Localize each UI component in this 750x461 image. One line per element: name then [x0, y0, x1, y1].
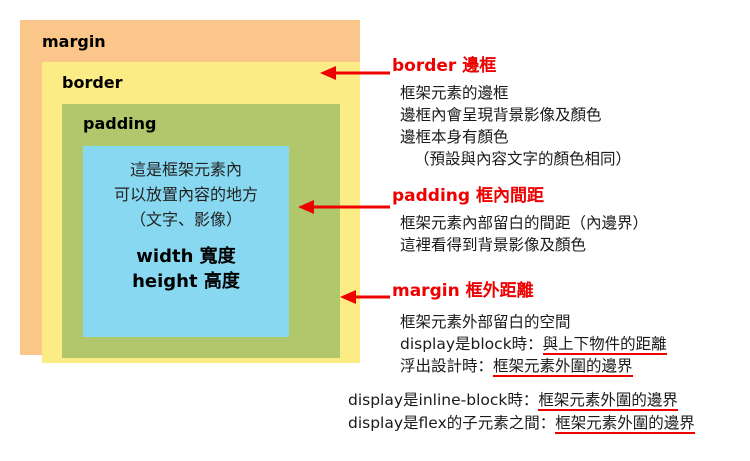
content-layer: 這是框架元素內 可以放置內容的地方 （文字、影像） width 寬度 heigh…	[83, 146, 289, 337]
extra-note-line-1-emphasis: 框架元素外圍的邊界	[538, 391, 678, 411]
annotation-padding-title: padding 框內間距	[392, 186, 648, 206]
extra-note-line-1-prefix: display是inline-block時：	[348, 391, 538, 409]
extra-note-line-2: display是flex的子元素之間：框架元素外圍的邊界	[348, 412, 695, 435]
padding-layer: padding 這是框架元素內 可以放置內容的地方 （文字、影像） width …	[62, 104, 340, 358]
margin-layer: margin border padding 這是框架元素內 可以放置內容的地方 …	[20, 20, 360, 355]
annotation-margin-line-2-prefix: display是block時：	[400, 335, 543, 353]
annotation-border-title: border 邊框	[392, 56, 631, 76]
box-model-diagram: margin border padding 這是框架元素內 可以放置內容的地方 …	[20, 20, 360, 355]
annotation-margin-line-3: 浮出設計時：框架元素外圍的邊界	[400, 355, 667, 377]
annotation-margin-line-2: display是block時：與上下物件的距離	[400, 333, 667, 355]
annotation-margin-body: 框架元素外部留白的空間 display是block時：與上下物件的距離 浮出設計…	[392, 311, 667, 377]
arrow-to-border-icon	[318, 64, 390, 82]
content-line-3: （文字、影像）	[114, 208, 258, 233]
content-line-1: 這是框架元素內	[114, 158, 258, 183]
content-description: 這是框架元素內 可以放置內容的地方 （文字、影像）	[114, 158, 258, 232]
annotation-border-line-1: 框架元素的邊框	[400, 82, 631, 104]
annotation-padding-line-2: 這裡看得到背景影像及顏色	[400, 234, 648, 256]
annotation-border-line-3: 邊框本身有顏色	[400, 126, 631, 148]
margin-label: margin	[42, 34, 360, 50]
extra-note-line-1: display是inline-block時：框架元素外圍的邊界	[348, 389, 695, 412]
annotation-margin: margin 框外距離 框架元素外部留白的空間 display是block時：與…	[392, 281, 667, 377]
annotation-padding-body: 框架元素內部留白的間距（內邊界） 這裡看得到背景影像及顏色	[392, 212, 648, 256]
annotation-padding-line-1: 框架元素內部留白的間距（內邊界）	[400, 212, 648, 234]
annotation-border: border 邊框 框架元素的邊框 邊框內會呈現背景影像及顏色 邊框本身有顏色 …	[392, 56, 631, 170]
annotation-border-body: 框架元素的邊框 邊框內會呈現背景影像及顏色 邊框本身有顏色 （預設與內容文字的顏…	[392, 82, 631, 170]
padding-label: padding	[83, 116, 340, 132]
annotation-margin-line-3-emphasis: 框架元素外圍的邊界	[493, 357, 633, 377]
content-width-label: width 寬度	[132, 245, 240, 269]
content-height-label: height 高度	[132, 270, 240, 294]
extra-note-line-2-emphasis: 框架元素外圍的邊界	[555, 414, 695, 434]
content-dimensions: width 寬度 height 高度	[132, 245, 240, 294]
arrow-to-padding-icon	[296, 198, 390, 216]
annotation-margin-line-2-emphasis: 與上下物件的距離	[543, 335, 667, 355]
content-line-2: 可以放置內容的地方	[114, 183, 258, 208]
extra-note-line-2-prefix: display是flex的子元素之間：	[348, 414, 555, 432]
annotation-margin-line-1: 框架元素外部留白的空間	[400, 311, 667, 333]
arrow-to-margin-icon	[338, 288, 390, 306]
annotation-margin-line-3-prefix: 浮出設計時：	[400, 357, 493, 375]
annotation-padding: padding 框內間距 框架元素內部留白的間距（內邊界） 這裡看得到背景影像及…	[392, 186, 648, 256]
annotation-border-line-2: 邊框內會呈現背景影像及顏色	[400, 104, 631, 126]
border-label: border	[62, 75, 360, 91]
annotation-extra-notes: display是inline-block時：框架元素外圍的邊界 display是…	[348, 389, 695, 436]
annotation-margin-title: margin 框外距離	[392, 281, 667, 301]
annotation-border-line-4: （預設與內容文字的顏色相同）	[400, 148, 631, 170]
